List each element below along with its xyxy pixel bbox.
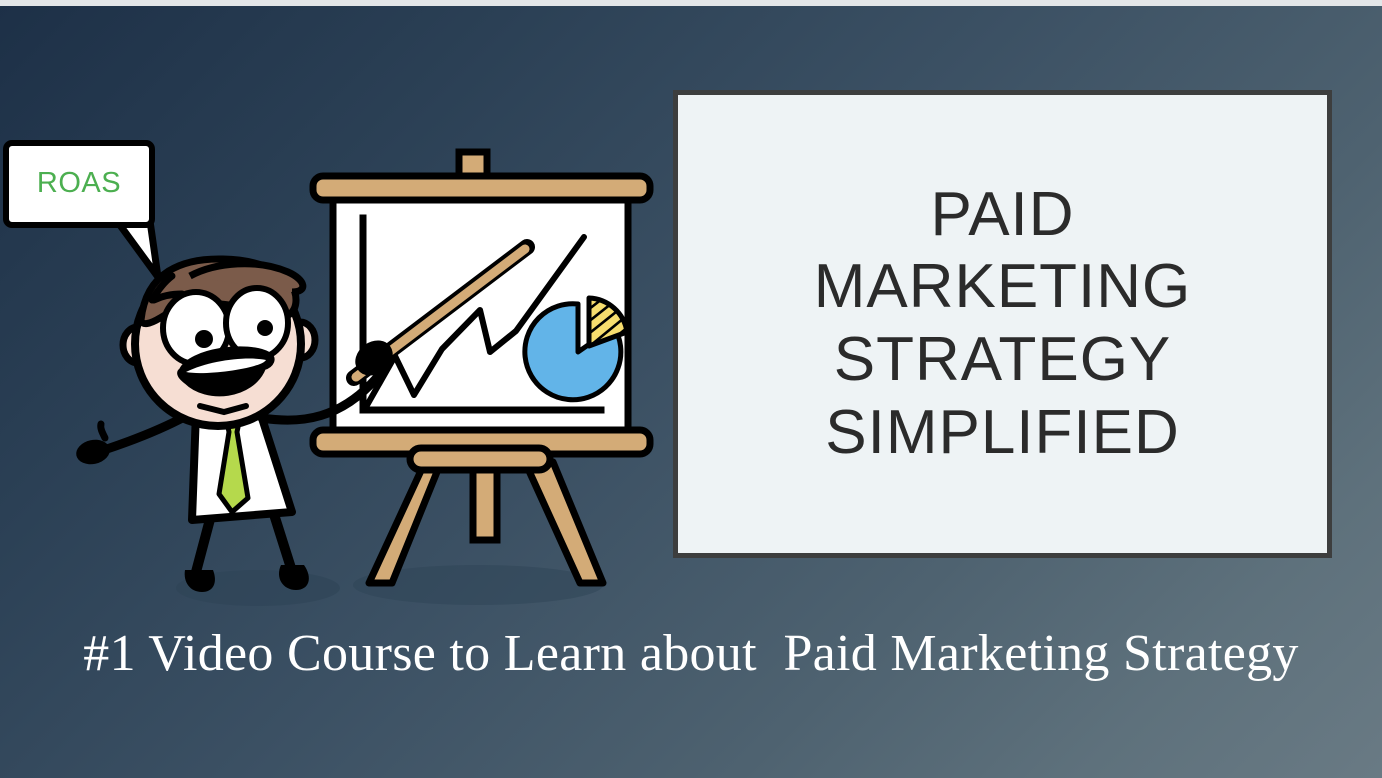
slide-caption: #1 Video Course to Learn about Paid Mark… xyxy=(0,624,1382,683)
title-card: PAID MARKETING STRATEGY SIMPLIFIED xyxy=(673,90,1332,558)
easel-tripod-collar xyxy=(410,448,550,470)
character-pupil-right xyxy=(257,320,273,336)
easel-leg-left xyxy=(369,462,441,583)
title-line-2: MARKETING xyxy=(814,251,1192,324)
character-left-hand xyxy=(74,437,112,468)
easel-top-bar xyxy=(313,176,650,200)
speech-bubble-label: ROAS xyxy=(37,167,121,200)
slide-canvas: ROAS PAID MARKETING STRATEGY SIMPLIFIED … xyxy=(0,0,1382,778)
title-line-1: PAID xyxy=(814,179,1192,252)
easel-leg-right xyxy=(525,462,603,583)
character-left-arm xyxy=(104,416,186,450)
character-left-thumb xyxy=(101,424,105,438)
title-card-text-block: PAID MARKETING STRATEGY SIMPLIFIED xyxy=(814,179,1192,469)
speech-bubble: ROAS xyxy=(3,140,155,228)
title-line-4: SIMPLIFIED xyxy=(814,397,1192,470)
character-pupil-left xyxy=(195,330,213,348)
title-line-3: STRATEGY xyxy=(814,324,1192,397)
easel-leg-center xyxy=(473,462,497,540)
